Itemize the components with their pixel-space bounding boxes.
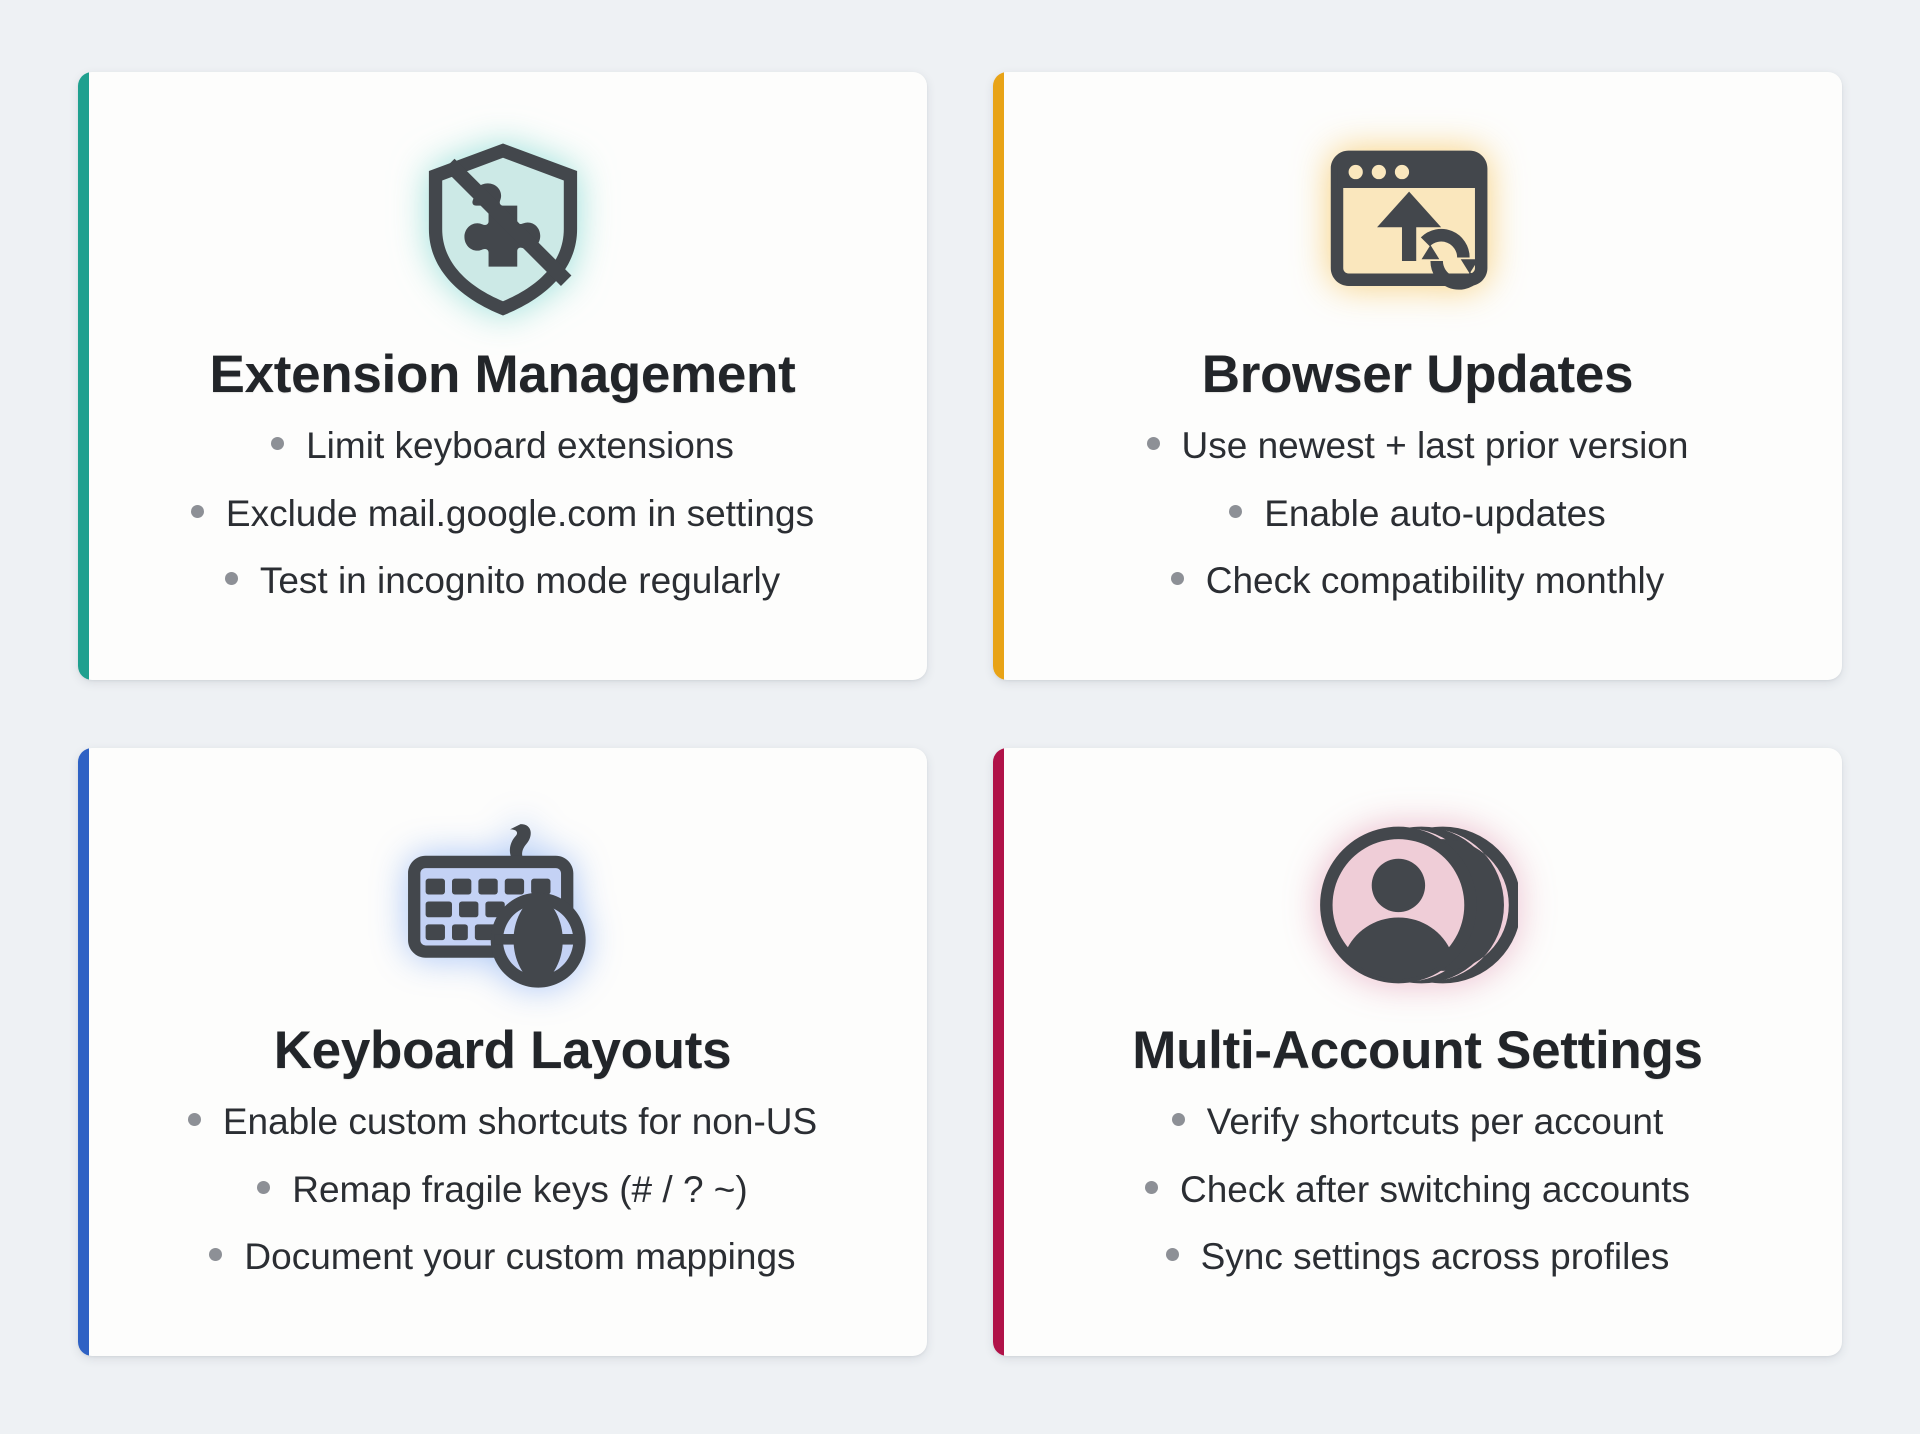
list-item: Enable custom shortcuts for non-US <box>188 1101 817 1142</box>
card-grid: Extension Management Limit keyboard exte… <box>0 0 1920 1434</box>
list-item-label: Exclude mail.google.com in settings <box>226 493 814 534</box>
list-item-label: Check after switching accounts <box>1180 1169 1690 1210</box>
bullet-dot-icon <box>1145 1181 1158 1194</box>
list-item: Limit keyboard extensions <box>271 425 734 466</box>
shield-puzzle-blocked-icon <box>408 124 598 334</box>
bullet-list: Enable custom shortcuts for non-US Remap… <box>122 1101 883 1277</box>
list-item-label: Verify shortcuts per account <box>1207 1101 1664 1142</box>
bullet-dot-icon <box>271 437 284 450</box>
card-title: Extension Management <box>210 346 796 403</box>
list-item: Verify shortcuts per account <box>1172 1101 1664 1142</box>
card-multi-account-settings[interactable]: Multi-Account Settings Verify shortcuts … <box>993 748 1842 1356</box>
card-extension-management[interactable]: Extension Management Limit keyboard exte… <box>78 72 927 680</box>
list-item-label: Remap fragile keys (# / ? ~) <box>292 1169 748 1210</box>
list-item-label: Check compatibility monthly <box>1206 560 1665 601</box>
browser-window-update-icon <box>1320 124 1516 334</box>
list-item: Sync settings across profiles <box>1166 1236 1670 1277</box>
card-title: Browser Updates <box>1202 346 1633 403</box>
list-item: Test in incognito mode regularly <box>225 560 780 601</box>
list-item: Enable auto-updates <box>1229 493 1606 534</box>
list-item-label: Enable custom shortcuts for non-US <box>223 1101 817 1142</box>
list-item-label: Test in incognito mode regularly <box>260 560 780 601</box>
card-keyboard-layouts[interactable]: Keyboard Layouts Enable custom shortcuts… <box>78 748 927 1356</box>
list-item-label: Sync settings across profiles <box>1201 1236 1670 1277</box>
list-item: Document your custom mappings <box>209 1236 795 1277</box>
bullet-dot-icon <box>1229 505 1242 518</box>
list-item-label: Enable auto-updates <box>1264 493 1606 534</box>
keyboard-globe-icon <box>401 800 605 1010</box>
bullet-dot-icon <box>1166 1248 1179 1261</box>
list-item: Use newest + last prior version <box>1147 425 1689 466</box>
list-item: Exclude mail.google.com in settings <box>191 493 814 534</box>
list-item: Check compatibility monthly <box>1171 560 1665 601</box>
bullet-dot-icon <box>225 572 238 585</box>
bullet-dot-icon <box>1172 1113 1185 1126</box>
list-item-label: Use newest + last prior version <box>1182 425 1689 466</box>
bullet-dot-icon <box>257 1181 270 1194</box>
bullet-list: Use newest + last prior version Enable a… <box>1037 425 1798 601</box>
bullet-dot-icon <box>191 505 204 518</box>
list-item: Remap fragile keys (# / ? ~) <box>257 1169 748 1210</box>
list-item-label: Document your custom mappings <box>244 1236 795 1277</box>
bullet-list: Verify shortcuts per account Check after… <box>1037 1101 1798 1277</box>
bullet-dot-icon <box>209 1248 222 1261</box>
card-title: Multi-Account Settings <box>1132 1022 1702 1079</box>
bullet-dot-icon <box>1171 572 1184 585</box>
bullet-dot-icon <box>188 1113 201 1126</box>
bullet-dot-icon <box>1147 437 1160 450</box>
card-title: Keyboard Layouts <box>274 1022 732 1079</box>
bullet-list: Limit keyboard extensions Exclude mail.g… <box>122 425 883 601</box>
stacked-user-accounts-icon <box>1318 800 1518 1010</box>
list-item: Check after switching accounts <box>1145 1169 1690 1210</box>
list-item-label: Limit keyboard extensions <box>306 425 734 466</box>
card-browser-updates[interactable]: Browser Updates Use newest + last prior … <box>993 72 1842 680</box>
